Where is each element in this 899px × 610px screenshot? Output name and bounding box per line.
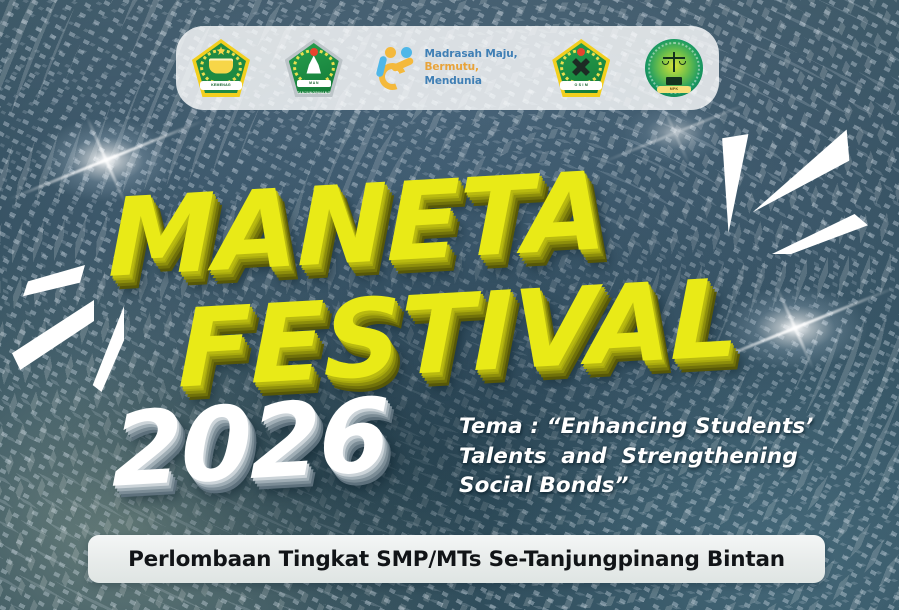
motto-line-3: Mendunia (425, 75, 518, 88)
kementerian-agama-crest-icon: ★ KEMENAG (192, 39, 250, 97)
crest-band-label: M A N (297, 80, 331, 87)
osim-crest-icon: O S I M (552, 39, 610, 97)
poster-canvas: ★ KEMENAG M A N TANJUNGPINANG (0, 0, 899, 610)
logo-osim: O S I M (552, 39, 610, 97)
logo-mpk: MPK (645, 39, 703, 97)
logo-kementerian-agama: ★ KEMENAG (192, 39, 250, 97)
madrasah-motto-text: Madrasah Maju, Bermutu, Mendunia (425, 48, 518, 88)
crest-ribbon-label: MPK (657, 86, 691, 93)
motto-line-1: Madrasah Maju, (425, 48, 518, 61)
crest-ribbon-subtext: TANJUNGPINANG (293, 90, 335, 97)
crest-ribbon-label: KEMENAG (200, 81, 242, 90)
logo-man-tanjungpinang: M A N TANJUNGPINANG (285, 39, 343, 97)
subtitle-banner: Perlombaan Tingkat SMP/MTs Se-Tanjungpin… (88, 535, 825, 583)
logo-panel: ★ KEMENAG M A N TANJUNGPINANG (176, 26, 719, 110)
man-tanjungpinang-crest-icon: M A N TANJUNGPINANG (285, 39, 343, 97)
logo-madrasah-motto: Madrasah Maju, Bermutu, Mendunia (378, 45, 518, 91)
mpk-crest-icon: MPK (645, 39, 703, 97)
crest-ribbon-label: O S I M (560, 81, 602, 90)
subtitle-banner-text: Perlombaan Tingkat SMP/MTs Se-Tanjungpin… (128, 547, 785, 572)
motto-line-2: Bermutu, (425, 61, 518, 74)
madrasah-people-icon (378, 45, 418, 91)
